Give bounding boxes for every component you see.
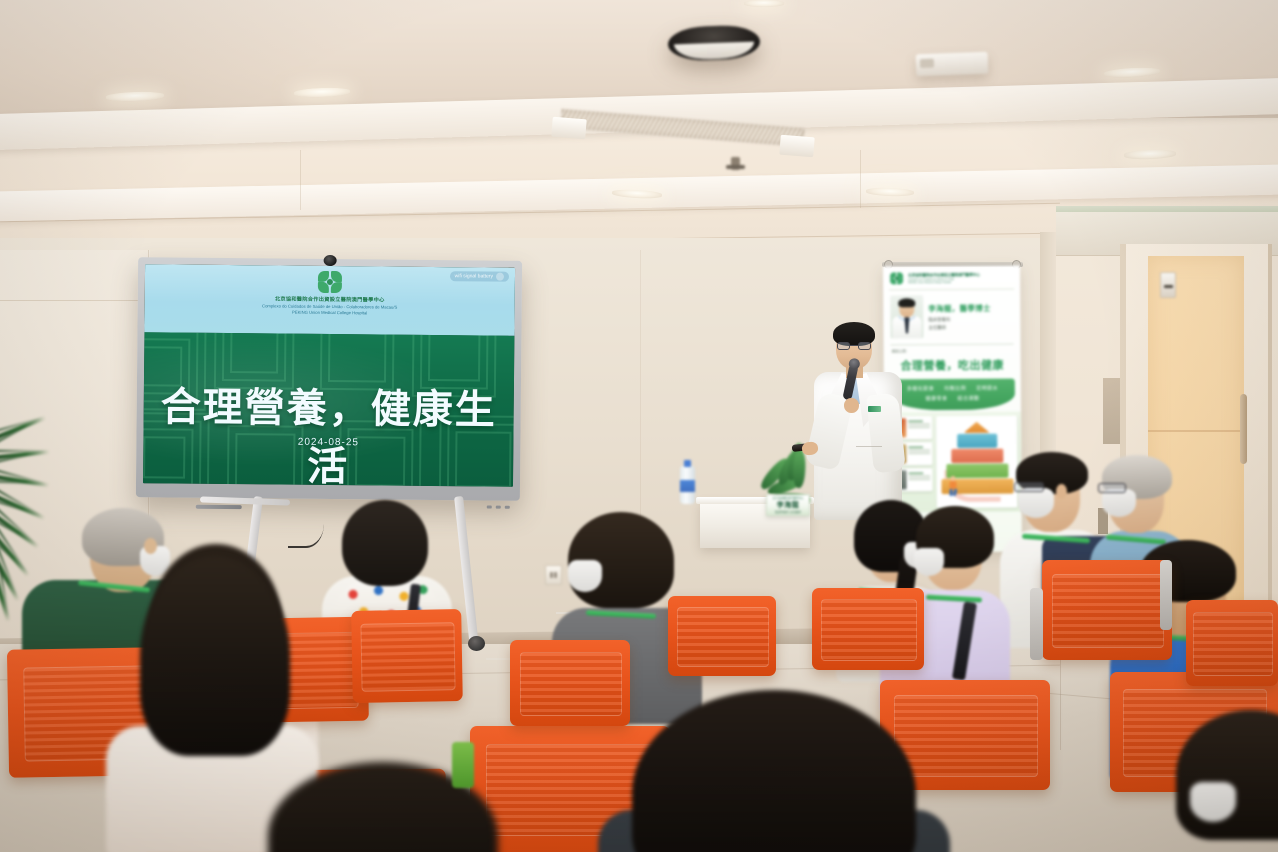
- access-card-reader-icon[interactable]: [1160, 272, 1176, 298]
- ceiling-tile-seam: [300, 150, 301, 210]
- banner-organization-zh: 北京協和醫院合作出資設立醫院澳門醫學中心: [908, 272, 980, 278]
- eyeglasses-icon: [1014, 482, 1044, 492]
- name-card-name: 李海龍: [777, 500, 800, 510]
- recessed-downlight: [744, 0, 784, 7]
- ceiling-tile-seam: [860, 150, 861, 208]
- display-screen[interactable]: 北京協和醫院合作出資設立醫院澳門醫學中心 Complexo do Cuidado…: [143, 264, 515, 487]
- hair: [140, 556, 290, 756]
- seat-armrest: [1030, 588, 1043, 660]
- door-handle-icon[interactable]: [1240, 394, 1247, 464]
- display-status-overlay: wifi signal battery: [450, 271, 509, 282]
- banner-header: 北京協和醫院合作出資設立醫院澳門醫學中心 Complexo do Cuidado…: [883, 266, 1020, 289]
- coat-pocket: [856, 446, 882, 462]
- eyeglasses-icon: [837, 342, 871, 350]
- hair: [632, 690, 916, 852]
- floor-joint: [1060, 660, 1061, 750]
- alcove-wall-panel: [1103, 378, 1120, 444]
- ear: [1056, 484, 1067, 499]
- banner-speaker-title: 主任醫師: [928, 324, 990, 330]
- presenting-doctor: [800, 320, 920, 520]
- clover-logo: [317, 270, 343, 294]
- banner-organization-en: PEKING Union Medical College Hospital: [908, 280, 980, 284]
- hospital-badge-icon: [868, 406, 881, 412]
- sprinkler-head-icon: [731, 157, 740, 170]
- status-text: wifi signal battery: [455, 273, 493, 279]
- air-vent-cap: [779, 135, 814, 158]
- seat-row-left-3[interactable]: [351, 609, 463, 703]
- clover-logo: [889, 271, 904, 285]
- display-cable: [288, 500, 324, 548]
- banner-point: 定時飲水: [976, 385, 998, 392]
- seat-row-right-1[interactable]: [1042, 560, 1172, 660]
- slide-organization-zh: 北京協和醫院合作出資設立醫院澳門醫學中心: [275, 295, 385, 303]
- display-button-icon[interactable]: [487, 505, 492, 508]
- face-mask-icon: [914, 548, 944, 576]
- interactive-display[interactable]: 北京協和醫院合作出資設立醫院澳門醫學中心 Complexo do Cuidado…: [136, 257, 522, 501]
- eyeglasses-icon: [1098, 483, 1126, 493]
- attendee-foreground-right: [1176, 710, 1278, 852]
- banner-speaker-dept: 臨床營養科: [928, 317, 990, 323]
- slide-header: 北京協和醫院合作出資設立醫院澳門醫學中心 Complexo do Cuidado…: [144, 264, 515, 335]
- face-mask-icon: [568, 560, 602, 592]
- water-bottle-icon[interactable]: [680, 466, 695, 504]
- air-vent-cap: [551, 117, 586, 140]
- runner-figure-icon: [948, 476, 957, 496]
- slide-organization-en: PEKING Union Medical College Hospital: [292, 309, 367, 315]
- hair: [342, 500, 428, 586]
- wall-seam: [640, 250, 641, 550]
- slide-title: 合理營養，健康生活: [143, 374, 514, 486]
- beverage-bottle-icon[interactable]: [452, 742, 474, 788]
- seat-armrest: [1160, 560, 1172, 630]
- banner-point: 結合運動: [957, 395, 979, 402]
- attendee-long-dark-hair-center: [598, 690, 950, 852]
- name-card-subtitle: 臨床營養科 主任醫師: [775, 510, 801, 514]
- display-button-icon[interactable]: [496, 505, 501, 508]
- hand-holding-microphone: [844, 398, 859, 413]
- face-mask-icon: [1190, 782, 1236, 822]
- seat-row-right-3[interactable]: [1186, 600, 1278, 686]
- banner-point: 健康零食: [925, 395, 947, 402]
- face-mask-icon: [1018, 488, 1054, 518]
- status-dot-icon: [496, 273, 504, 281]
- air-conditioner-unit-icon: [916, 52, 989, 76]
- hair: [1176, 710, 1278, 840]
- door-panel-split: [1148, 430, 1244, 432]
- display-button-icon[interactable]: [505, 505, 510, 508]
- banner-point: 均衡比例: [944, 385, 966, 392]
- face-mask-icon: [1102, 489, 1136, 517]
- display-stand-caster: [468, 636, 485, 651]
- slide-body: 合理營養，健康生活 2024-08-25: [143, 332, 514, 487]
- webcam-icon: [324, 255, 337, 266]
- lecture-room-photo: 北京協和醫院合作出資設立醫院澳門醫學中心 Complexo do Cuidado…: [0, 0, 1278, 852]
- seat-row-back-right-1[interactable]: [812, 588, 924, 670]
- seat-row-back-center[interactable]: [668, 596, 776, 676]
- banner-speaker-name: 李海龍，醫學博士: [928, 303, 990, 314]
